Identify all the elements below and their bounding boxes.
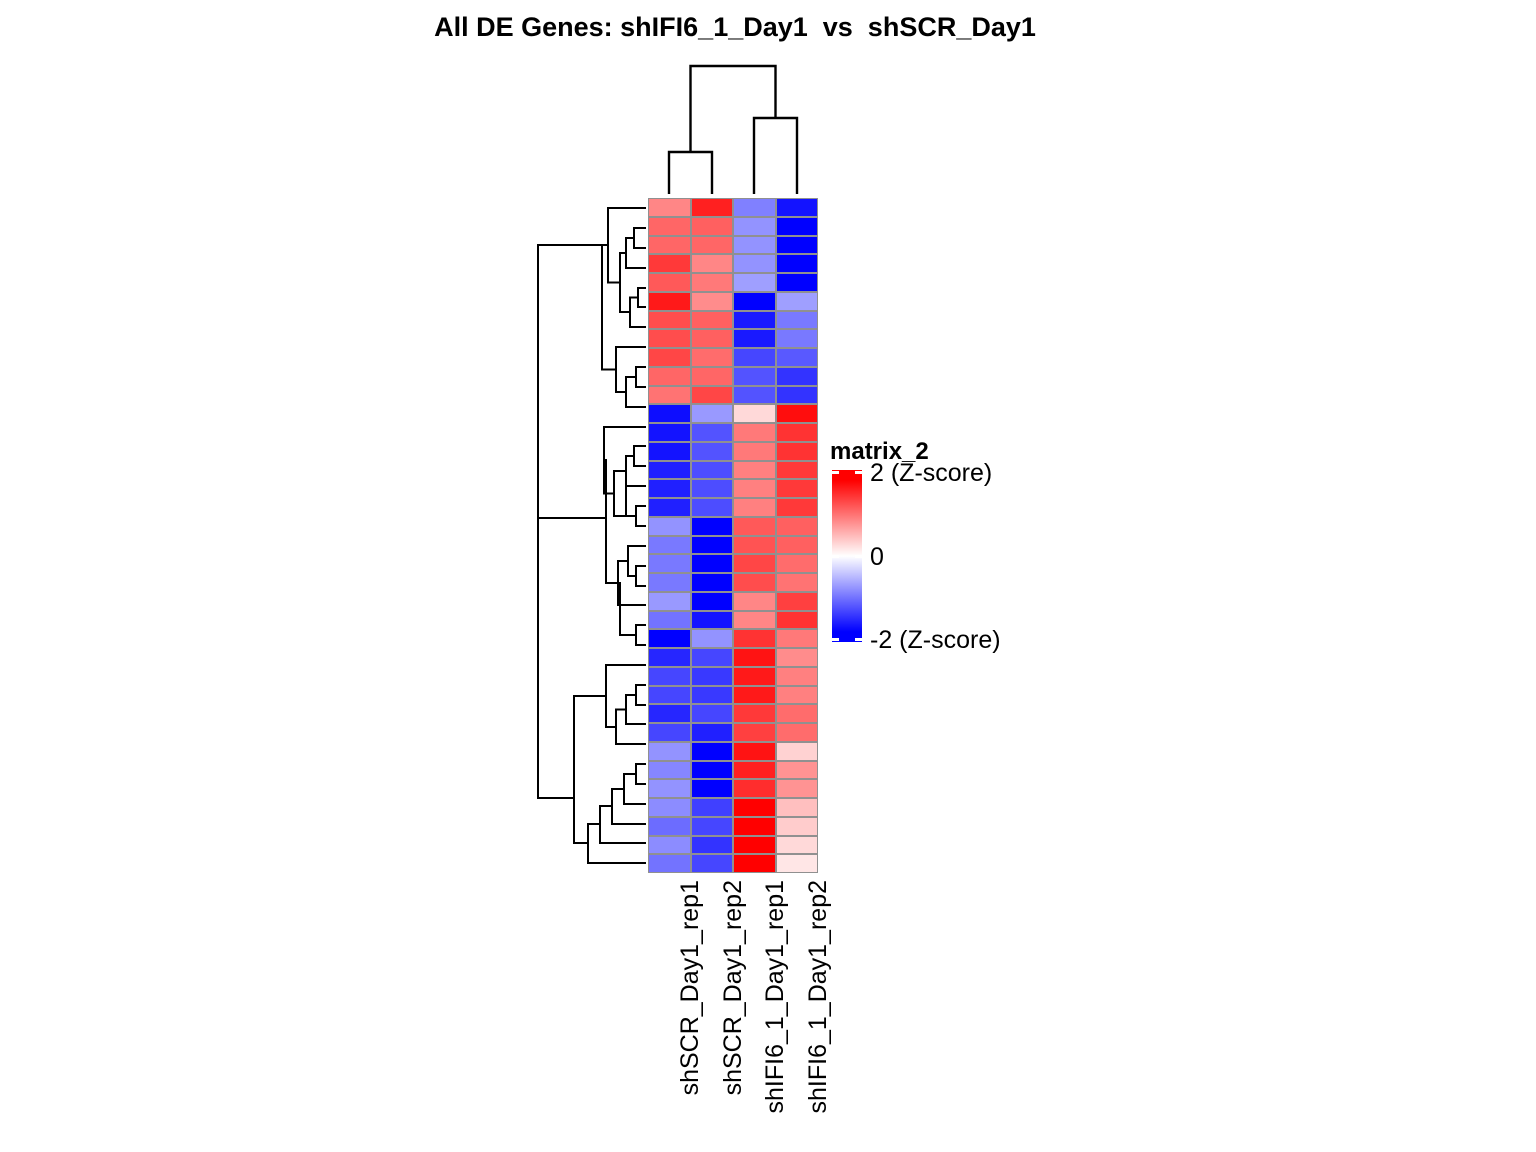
heatmap-cell[interactable] — [776, 254, 819, 273]
heatmap-cell[interactable] — [691, 498, 734, 517]
heatmap-row[interactable] — [648, 798, 818, 817]
heatmap-cell[interactable] — [691, 367, 734, 386]
heatmap-cell[interactable] — [648, 761, 691, 780]
page-title: All DE Genes: shIFI6_1_Day1 vs shSCR_Day… — [0, 12, 1470, 43]
row-dendrogram — [508, 198, 646, 873]
heatmap-cell[interactable] — [733, 836, 776, 855]
heatmap-cell[interactable] — [691, 236, 734, 255]
heatmap-cell[interactable] — [733, 611, 776, 630]
heatmap-row[interactable] — [648, 404, 818, 423]
heatmap-cell[interactable] — [776, 554, 819, 573]
heatmap-row[interactable] — [648, 461, 818, 480]
heatmap-cell[interactable] — [733, 273, 776, 292]
heatmap-cell[interactable] — [776, 779, 819, 798]
heatmap-cell[interactable] — [776, 404, 819, 423]
heatmap-row[interactable] — [648, 648, 818, 667]
heatmap-row[interactable] — [648, 779, 818, 798]
heatmap-cell[interactable] — [648, 517, 691, 536]
legend-tick-low — [832, 638, 862, 641]
heatmap-matrix[interactable] — [648, 198, 818, 873]
heatmap-cell[interactable] — [776, 854, 819, 873]
heatmap-row[interactable] — [648, 554, 818, 573]
heatmap-cell[interactable] — [776, 536, 819, 555]
heatmap-cell[interactable] — [733, 648, 776, 667]
heatmap-cell[interactable] — [648, 442, 691, 461]
heatmap-row[interactable] — [648, 217, 818, 236]
heatmap-cell[interactable] — [733, 386, 776, 405]
heatmap-cell[interactable] — [776, 686, 819, 705]
heatmap-cell[interactable] — [648, 536, 691, 555]
heatmap-cell[interactable] — [691, 442, 734, 461]
heatmap-cell[interactable] — [691, 554, 734, 573]
heatmap-cell[interactable] — [776, 648, 819, 667]
column-label-shscr-day1-rep1: shSCR_Day1_rep1 — [648, 880, 691, 1120]
heatmap-cell[interactable] — [776, 761, 819, 780]
heatmap-row[interactable] — [648, 723, 818, 742]
heatmap-cell[interactable] — [648, 554, 691, 573]
heatmap-cell[interactable] — [648, 292, 691, 311]
column-label-shscr-day1-rep2: shSCR_Day1_rep2 — [691, 880, 734, 1120]
heatmap-cell[interactable] — [733, 592, 776, 611]
heatmap-row[interactable] — [648, 386, 818, 405]
heatmap-row[interactable] — [648, 573, 818, 592]
heatmap-cell[interactable] — [733, 236, 776, 255]
heatmap-cell[interactable] — [648, 217, 691, 236]
heatmap-cell[interactable] — [691, 723, 734, 742]
heatmap-row[interactable] — [648, 704, 818, 723]
heatmap-cell[interactable] — [776, 798, 819, 817]
heatmap-cell[interactable] — [733, 573, 776, 592]
heatmap-cell[interactable] — [733, 629, 776, 648]
heatmap-cell[interactable] — [733, 742, 776, 761]
heatmap-row[interactable] — [648, 292, 818, 311]
heatmap-cell[interactable] — [776, 723, 819, 742]
column-dendrogram — [648, 60, 818, 194]
heatmap-cell[interactable] — [776, 667, 819, 686]
heatmap-cell[interactable] — [733, 667, 776, 686]
heatmap-cell[interactable] — [691, 742, 734, 761]
heatmap-cell[interactable] — [776, 198, 819, 217]
legend-tick-mid — [832, 555, 862, 558]
heatmap-cell[interactable] — [691, 611, 734, 630]
heatmap-cell[interactable] — [691, 386, 734, 405]
heatmap-cell[interactable] — [648, 367, 691, 386]
heatmap-row[interactable] — [648, 592, 818, 611]
legend-label-mid: 0 — [870, 545, 884, 570]
heatmap-cell[interactable] — [733, 498, 776, 517]
heatmap-cell[interactable] — [733, 442, 776, 461]
heatmap-cell[interactable] — [648, 723, 691, 742]
heatmap-cell[interactable] — [691, 348, 734, 367]
heatmap-cell[interactable] — [776, 292, 819, 311]
heatmap-cell[interactable] — [691, 404, 734, 423]
heatmap-cell[interactable] — [648, 404, 691, 423]
heatmap-row[interactable] — [648, 854, 818, 873]
heatmap-cell[interactable] — [776, 517, 819, 536]
heatmap-cell[interactable] — [648, 592, 691, 611]
heatmap-cell[interactable] — [733, 292, 776, 311]
heatmap-cell[interactable] — [691, 779, 734, 798]
heatmap-cell[interactable] — [776, 479, 819, 498]
heatmap-cell[interactable] — [776, 329, 819, 348]
heatmap-row[interactable] — [648, 348, 818, 367]
heatmap-cell[interactable] — [776, 348, 819, 367]
heatmap-cell[interactable] — [648, 742, 691, 761]
heatmap-cell[interactable] — [776, 817, 819, 836]
heatmap-row[interactable] — [648, 442, 818, 461]
heatmap-cell[interactable] — [733, 854, 776, 873]
heatmap-cell[interactable] — [733, 254, 776, 273]
heatmap-cell[interactable] — [776, 592, 819, 611]
heatmap-cell[interactable] — [776, 629, 819, 648]
heatmap-cell[interactable] — [691, 629, 734, 648]
heatmap-cell[interactable] — [691, 592, 734, 611]
heatmap-row[interactable] — [648, 517, 818, 536]
heatmap-cell[interactable] — [691, 198, 734, 217]
heatmap-cell[interactable] — [733, 198, 776, 217]
heatmap-cell[interactable] — [648, 329, 691, 348]
heatmap-cell[interactable] — [733, 329, 776, 348]
heatmap-row[interactable] — [648, 254, 818, 273]
heatmap-cell[interactable] — [648, 236, 691, 255]
heatmap-cell[interactable] — [648, 611, 691, 630]
heatmap-row[interactable] — [648, 367, 818, 386]
heatmap-row[interactable] — [648, 236, 818, 255]
heatmap-cell[interactable] — [776, 573, 819, 592]
heatmap-cell[interactable] — [776, 442, 819, 461]
heatmap-cell[interactable] — [691, 292, 734, 311]
heatmap-row[interactable] — [648, 836, 818, 855]
heatmap-cell[interactable] — [776, 461, 819, 480]
heatmap-cell[interactable] — [648, 461, 691, 480]
heatmap-cell[interactable] — [691, 667, 734, 686]
heatmap-cell[interactable] — [691, 686, 734, 705]
heatmap-cell[interactable] — [648, 254, 691, 273]
heatmap-figure: All DE Genes: shIFI6_1_Day1 vs shSCR_Day… — [0, 0, 1536, 1152]
heatmap-cell[interactable] — [648, 573, 691, 592]
heatmap-cell[interactable] — [733, 761, 776, 780]
heatmap-row[interactable] — [648, 761, 818, 780]
heatmap-cell[interactable] — [691, 254, 734, 273]
heatmap-cell[interactable] — [691, 704, 734, 723]
heatmap-cell[interactable] — [648, 686, 691, 705]
heatmap-cell[interactable] — [776, 836, 819, 855]
heatmap-cell[interactable] — [776, 498, 819, 517]
heatmap-cell[interactable] — [648, 311, 691, 330]
heatmap-cell[interactable] — [733, 779, 776, 798]
heatmap-cell[interactable] — [733, 367, 776, 386]
heatmap-cell[interactable] — [691, 217, 734, 236]
column-label-shifi6-1-day1-rep2: shIFI6_1_Day1_rep2 — [776, 880, 819, 1120]
heatmap-cell[interactable] — [691, 479, 734, 498]
heatmap-row[interactable] — [648, 611, 818, 630]
heatmap-cell[interactable] — [733, 461, 776, 480]
heatmap-row[interactable] — [648, 311, 818, 330]
heatmap-row[interactable] — [648, 742, 818, 761]
heatmap-cell[interactable] — [776, 742, 819, 761]
heatmap-row[interactable] — [648, 329, 818, 348]
heatmap-cell[interactable] — [648, 348, 691, 367]
heatmap-cell[interactable] — [733, 798, 776, 817]
heatmap-cell[interactable] — [691, 761, 734, 780]
heatmap-cell[interactable] — [691, 329, 734, 348]
heatmap-cell[interactable] — [776, 273, 819, 292]
column-label-shifi6-1-day1-rep1: shIFI6_1_Day1_rep1 — [733, 880, 776, 1120]
heatmap-row[interactable] — [648, 479, 818, 498]
heatmap-cell[interactable] — [691, 311, 734, 330]
heatmap-row[interactable] — [648, 273, 818, 292]
heatmap-cell[interactable] — [733, 423, 776, 442]
heatmap-cell[interactable] — [776, 367, 819, 386]
heatmap-row[interactable] — [648, 498, 818, 517]
legend-label-low: -2 (Z-score) — [870, 628, 1001, 653]
heatmap-cell[interactable] — [648, 854, 691, 873]
heatmap-cell[interactable] — [648, 667, 691, 686]
heatmap-cell[interactable] — [776, 217, 819, 236]
heatmap-cell[interactable] — [648, 198, 691, 217]
heatmap-cell[interactable] — [733, 536, 776, 555]
heatmap-cell[interactable] — [648, 648, 691, 667]
heatmap-cell[interactable] — [691, 461, 734, 480]
heatmap-cell[interactable] — [776, 611, 819, 630]
heatmap-cell[interactable] — [648, 629, 691, 648]
heatmap-row[interactable] — [648, 423, 818, 442]
heatmap-cell[interactable] — [648, 704, 691, 723]
heatmap-cell[interactable] — [776, 704, 819, 723]
heatmap-cell[interactable] — [691, 536, 734, 555]
heatmap-cell[interactable] — [691, 517, 734, 536]
heatmap-cell[interactable] — [691, 798, 734, 817]
heatmap-cell[interactable] — [648, 798, 691, 817]
heatmap-cell[interactable] — [691, 854, 734, 873]
heatmap-cell[interactable] — [648, 386, 691, 405]
column-labels: shSCR_Day1_rep1 shSCR_Day1_rep2 shIFI6_1… — [648, 880, 818, 1130]
heatmap-cell[interactable] — [733, 479, 776, 498]
heatmap-cell[interactable] — [733, 817, 776, 836]
heatmap-cell[interactable] — [691, 836, 734, 855]
legend-tick-high — [832, 471, 862, 474]
heatmap-cell[interactable] — [691, 273, 734, 292]
heatmap-cell[interactable] — [733, 517, 776, 536]
heatmap-row[interactable] — [648, 629, 818, 648]
heatmap-cell[interactable] — [776, 423, 819, 442]
heatmap-cell[interactable] — [691, 817, 734, 836]
heatmap-cell[interactable] — [733, 348, 776, 367]
heatmap-cell[interactable] — [733, 723, 776, 742]
heatmap-row[interactable] — [648, 198, 818, 217]
heatmap-cell[interactable] — [648, 423, 691, 442]
heatmap-row[interactable] — [648, 817, 818, 836]
heatmap-row[interactable] — [648, 667, 818, 686]
heatmap-cell[interactable] — [648, 779, 691, 798]
heatmap-cell[interactable] — [691, 573, 734, 592]
heatmap-row[interactable] — [648, 536, 818, 555]
heatmap-cell[interactable] — [648, 479, 691, 498]
heatmap-row[interactable] — [648, 686, 818, 705]
heatmap-cell[interactable] — [776, 386, 819, 405]
heatmap-cell[interactable] — [733, 217, 776, 236]
heatmap-cell[interactable] — [733, 704, 776, 723]
heatmap-cell[interactable] — [648, 498, 691, 517]
heatmap-cell[interactable] — [776, 236, 819, 255]
heatmap-cell[interactable] — [776, 311, 819, 330]
heatmap-cell[interactable] — [733, 404, 776, 423]
heatmap-cell[interactable] — [733, 686, 776, 705]
heatmap-cell[interactable] — [691, 648, 734, 667]
heatmap-cell[interactable] — [733, 554, 776, 573]
heatmap-cell[interactable] — [648, 817, 691, 836]
heatmap-cell[interactable] — [648, 836, 691, 855]
heatmap-cell[interactable] — [691, 423, 734, 442]
heatmap-cell[interactable] — [733, 311, 776, 330]
legend-label-high: 2 (Z-score) — [870, 461, 992, 486]
heatmap-cell[interactable] — [648, 273, 691, 292]
